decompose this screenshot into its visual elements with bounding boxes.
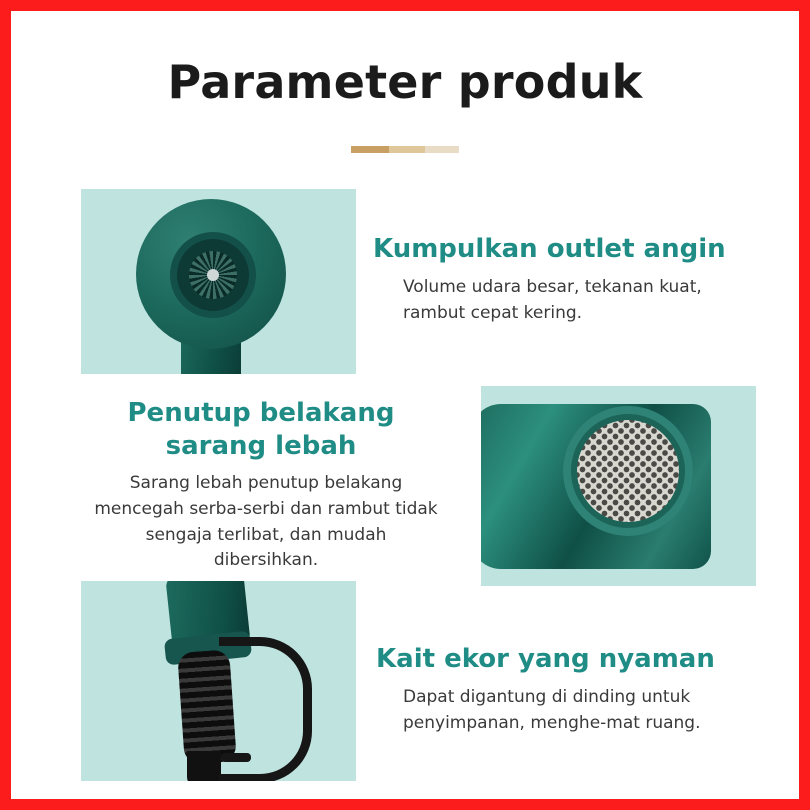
feature-2-heading: Penutup belakang sarang lebah bbox=[81, 397, 441, 464]
feature-2-body: Sarang lebah penutup belakang mencegah s… bbox=[91, 471, 441, 574]
title-divider bbox=[351, 146, 459, 153]
page-inner: Parameter produk Kumpulkan outlet angin … bbox=[11, 11, 799, 799]
hair-dryer-nozzle-photo bbox=[81, 189, 356, 374]
nozzle-center-hub bbox=[207, 269, 219, 281]
divider-segment-middle bbox=[389, 146, 425, 153]
tail-hook-tip bbox=[221, 753, 251, 762]
feature-3-heading: Kait ekor yang nyaman bbox=[376, 643, 776, 676]
honeycomb-rear-cover-photo bbox=[481, 386, 756, 586]
feature-1-body: Volume udara besar, tekanan kuat, rambut… bbox=[403, 275, 743, 327]
feature-1-heading: Kumpulkan outlet angin bbox=[373, 233, 773, 266]
page-title: Parameter produk bbox=[11, 55, 799, 109]
divider-segment-right bbox=[425, 146, 459, 153]
divider-segment-left bbox=[351, 146, 389, 153]
feature-3-body: Dapat digantung di dinding untuk penyimp… bbox=[403, 685, 733, 737]
honeycomb-mesh bbox=[577, 420, 679, 522]
tail-hook-photo bbox=[81, 581, 356, 781]
cord-tail-shape bbox=[187, 751, 221, 781]
product-parameter-page: Parameter produk Kumpulkan outlet angin … bbox=[0, 0, 810, 810]
